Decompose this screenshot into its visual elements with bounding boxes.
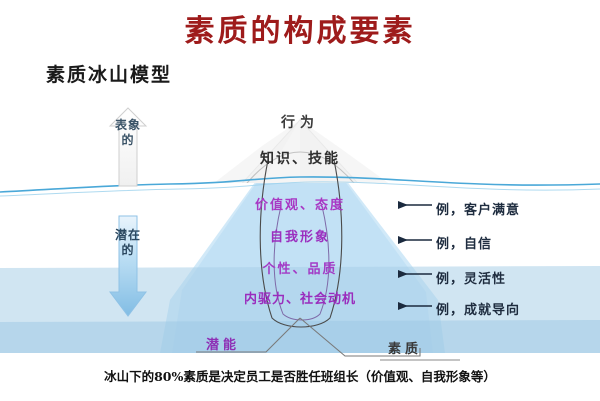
annotation-flexibility: 例，灵活性 <box>436 268 506 287</box>
slide-canvas: 素质的构成要素 素质冰山模型 <box>0 0 600 401</box>
annotation-customer-satisfaction: 例，客户满意 <box>436 199 520 218</box>
arrow-up-label: 表象的 <box>113 118 143 148</box>
iceberg-label-self-image: 自我形象 <box>235 226 365 245</box>
iceberg-label-motives: 内驱力、社会动机 <box>225 288 375 307</box>
annotation-confidence: 例，自信 <box>436 233 492 252</box>
iceberg-label-knowledge: 知识、技能 <box>235 148 365 168</box>
bracket-label-potential: 潜能 <box>206 334 240 353</box>
caption-text: 冰山下的80%素质是决定员工是否胜任班组长（价值观、自我形象等） <box>0 366 600 385</box>
iceberg-label-behavior: 行为 <box>240 112 360 132</box>
arrow-down-label: 潜在的 <box>113 228 143 258</box>
iceberg-label-traits: 个性、品质 <box>235 258 365 277</box>
bracket-label-competence: 素质 <box>388 338 422 357</box>
iceberg-label-values: 价值观、态度 <box>225 194 375 213</box>
annotation-achievement-orientation: 例，成就导向 <box>436 299 520 318</box>
